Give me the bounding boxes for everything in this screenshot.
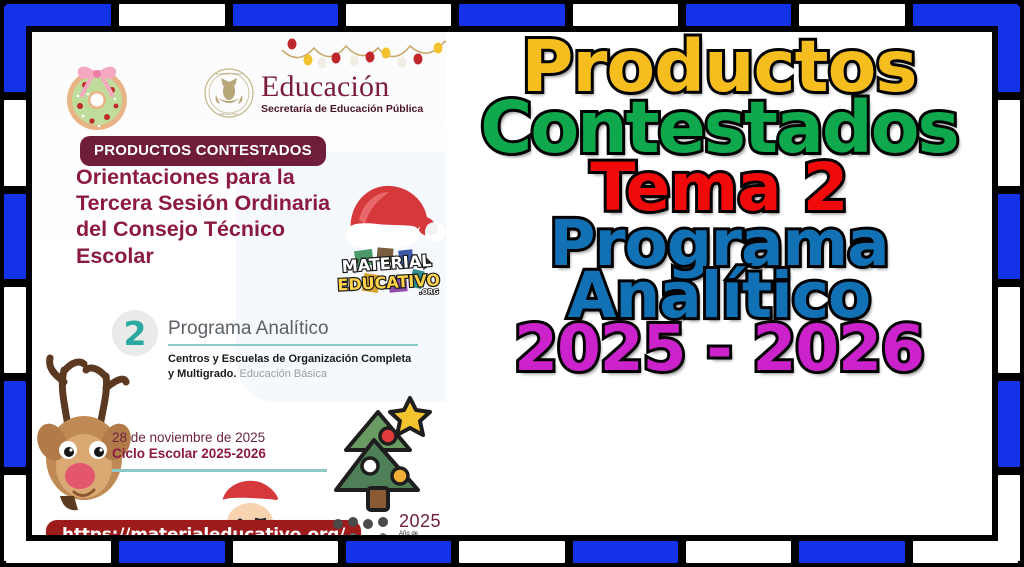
headline-line-6: 2025 - 2026	[514, 320, 924, 378]
thumbnail-canvas: ESTADOS UNIDOS MEXICANOS Educación Secre…	[0, 0, 1024, 567]
website-url-banner[interactable]: https://materialeducativo.org/	[46, 520, 361, 535]
sep-title: Educación	[261, 72, 423, 102]
mexican-coat-of-arms-icon: ESTADOS UNIDOS MEXICANOS	[204, 68, 254, 118]
christmas-tree-icon	[322, 388, 442, 520]
santa-hat-icon	[346, 186, 445, 249]
mujer-indigena-badge: 2025 Año de La Mujer Indígena	[328, 512, 446, 535]
frame-border-bottom	[6, 541, 1018, 563]
section-heading: Programa Analítico	[168, 318, 418, 344]
svg-text:MEXICANOS: MEXICANOS	[220, 112, 239, 116]
reindeer-icon	[34, 330, 138, 515]
badge-year: 2025	[399, 512, 446, 531]
frame-border-right	[998, 6, 1020, 561]
indigenous-women-figures-icon	[328, 513, 394, 535]
status-badge-productos-contestados: PRODUCTOS CONTESTADOS	[80, 136, 326, 166]
headline-stack: Productos Contestados Tema 2 Programa An…	[446, 32, 992, 535]
session-date: 28 de noviembre de 2025	[112, 430, 327, 445]
date-block: 28 de noviembre de 2025 Ciclo Escolar 20…	[112, 430, 327, 472]
document-preview-card: ESTADOS UNIDOS MEXICANOS Educación Secre…	[32, 32, 446, 535]
svg-text:ESTADOS UNIDOS: ESTADOS UNIDOS	[216, 72, 242, 76]
svg-text:.ORG: .ORG	[419, 288, 439, 296]
material-educativo-logo: MATERIAL EDUCATIVO .ORG	[337, 174, 446, 299]
section-subtext: Centros y Escuelas de Organización Compl…	[168, 352, 418, 382]
badge-sub-ano-de: Año de	[399, 531, 446, 535]
section-subtext-muted: Educación Básica	[236, 368, 327, 380]
sep-subtitle: Secretaría de Educación Pública	[261, 104, 423, 115]
document-title: Orientaciones para la Tercera Sesión Ord…	[76, 164, 346, 269]
frame-border-left	[4, 6, 26, 561]
section-heading-group: Programa Analítico	[168, 318, 418, 346]
section-divider	[168, 344, 418, 346]
content-canvas: ESTADOS UNIDOS MEXICANOS Educación Secre…	[32, 32, 992, 535]
sep-logo: ESTADOS UNIDOS MEXICANOS Educación Secre…	[204, 68, 423, 118]
christmas-wreath-cookie-icon	[58, 54, 136, 134]
date-divider	[112, 469, 327, 472]
frame-border-top	[6, 4, 1018, 26]
school-cycle: Ciclo Escolar 2025-2026	[112, 446, 327, 461]
